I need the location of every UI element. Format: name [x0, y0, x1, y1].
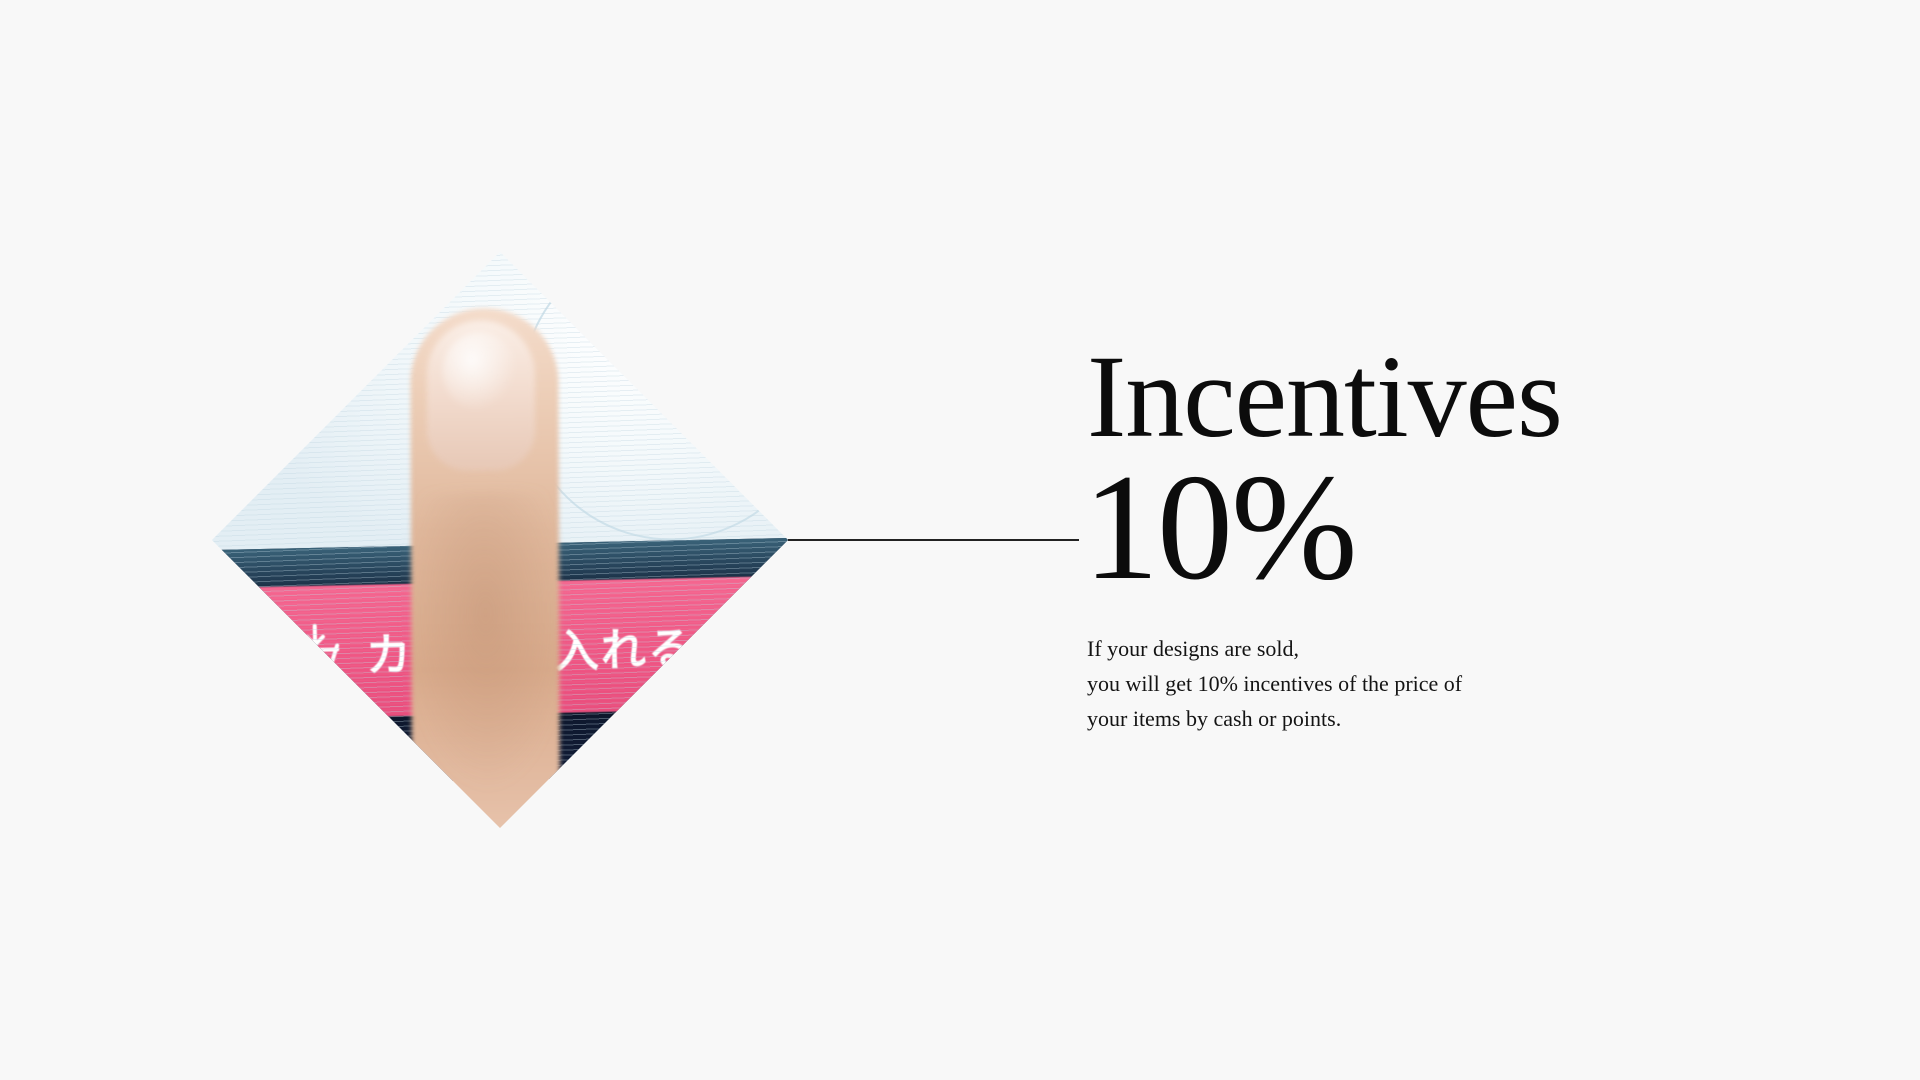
secondary-action-label[interactable]: 取扱い — [212, 736, 303, 782]
description-line-1: If your designs are sold, — [1087, 631, 1787, 666]
percent-value: 10% — [1083, 450, 1787, 605]
callout-text: Incentives 10% If your designs are sold,… — [1087, 338, 1787, 736]
connector-line — [788, 539, 1079, 541]
like-count: 459 — [661, 377, 736, 423]
page-title: Incentives — [1087, 338, 1787, 456]
product-thumbnail — [212, 349, 280, 435]
pink-arc-shape — [726, 252, 788, 283]
description-line-3: your items by cash or points. — [1087, 701, 1787, 736]
phone-screenshot: 459 — [212, 252, 788, 828]
diamond-photo: 459 — [212, 252, 788, 828]
cart-down-arrow-icon — [283, 621, 348, 682]
description: If your designs are sold, you will get 1… — [1087, 631, 1787, 736]
description-line-2: you will get 10% incentives of the price… — [1087, 666, 1787, 701]
diamond-clip: 459 — [212, 252, 788, 828]
slide-canvas: 459 — [0, 0, 1920, 1080]
finger-shading — [399, 491, 573, 794]
heart-icon — [243, 382, 306, 441]
